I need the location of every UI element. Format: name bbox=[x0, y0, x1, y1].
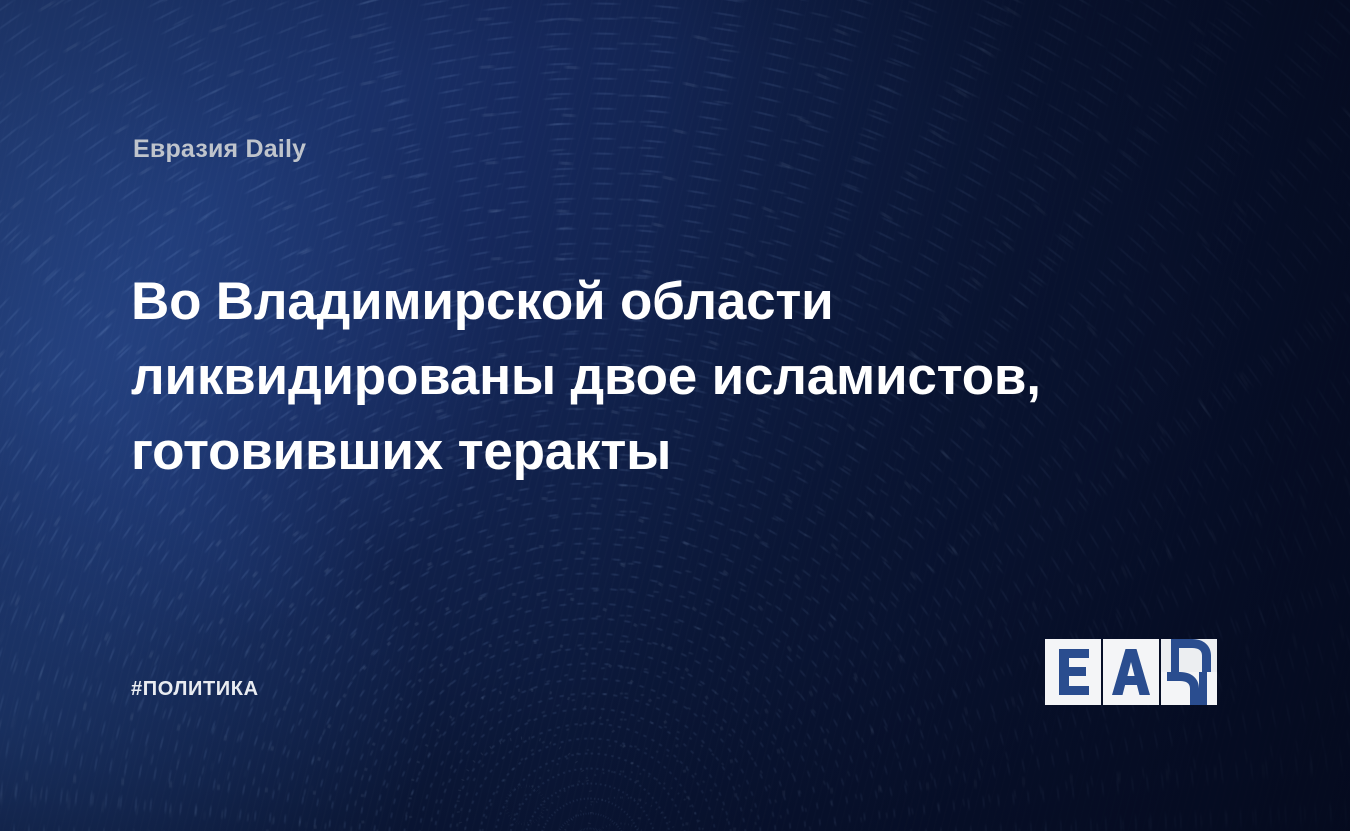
card-content: Евразия Daily Во Владимирской области ли… bbox=[0, 0, 1350, 831]
logo-letter-a-icon bbox=[1103, 639, 1159, 705]
logo-tile-a bbox=[1103, 639, 1159, 705]
logo-letter-d-rotated-icon bbox=[1161, 672, 1217, 705]
headline-line-1: Во Владимирской области bbox=[131, 264, 1131, 339]
logo-d-lower-half bbox=[1161, 672, 1217, 705]
social-share-card: Евразия Daily Во Владимирской области ли… bbox=[0, 0, 1350, 831]
logo-letter-d-split-icon bbox=[1161, 639, 1217, 672]
eadaily-logo[interactable] bbox=[1045, 639, 1217, 705]
logo-letter-e-icon bbox=[1045, 639, 1101, 705]
logo-d-upper-half bbox=[1161, 639, 1217, 672]
headline-line-3: готовивших теракты bbox=[131, 414, 1131, 489]
headline: Во Владимирской области ликвидированы дв… bbox=[131, 264, 1131, 489]
category-tag[interactable]: #ПОЛИТИКА bbox=[131, 678, 259, 701]
headline-line-2: ликвидированы двое исламистов, bbox=[131, 339, 1131, 414]
logo-tile-e bbox=[1045, 639, 1101, 705]
logo-tile-d bbox=[1161, 639, 1217, 705]
publication-masthead[interactable]: Евразия Daily bbox=[133, 135, 306, 164]
